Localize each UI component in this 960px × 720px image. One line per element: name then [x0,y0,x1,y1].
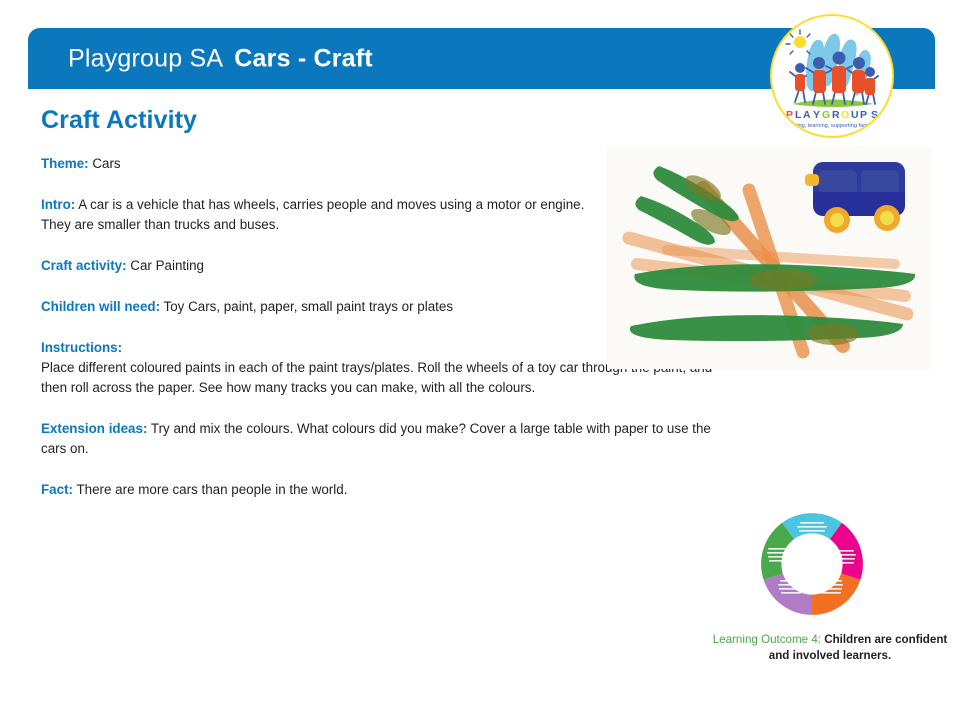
craft-activity-block: Craft activity: Car Painting [41,256,606,276]
learning-outcome-caption: Learning Outcome 4: Children are confide… [705,632,955,664]
svg-text:A: A [803,109,812,121]
svg-text:R: R [832,109,841,121]
svg-text:S: S [871,109,879,121]
logo-tagline: Playing, learning, supporting families [786,123,877,129]
svg-text:O: O [841,109,850,121]
header-title: Playgroup SACars - Craft [68,46,373,71]
extension-ideas-label: Extension ideas: [41,421,147,436]
children-will-need-block: Children will need: Toy Cars, paint, pap… [41,297,606,317]
learning-outcomes-wheel [756,508,868,620]
extension-ideas-block: Extension ideas: Try and mix the colours… [41,419,717,459]
svg-text:L: L [795,109,802,121]
page-title: Craft Activity [41,106,197,135]
theme-block: Theme: Cars [41,154,606,174]
learning-outcomes-donut [756,508,868,620]
intro-label: Intro: [41,197,75,212]
svg-text:P: P [786,109,794,121]
craft-activity-label: Craft activity: [41,258,127,273]
intro-block: Intro: A car is a vehicle that has wheel… [41,195,606,235]
car-painting-artwork [607,146,932,369]
learning-outcome-highlight: Learning Outcome 4: [713,633,821,646]
intro-value: A car is a vehicle that has wheels, carr… [41,197,584,232]
svg-text:P: P [860,109,868,121]
car-painting-photo [607,146,932,369]
fact-label: Fact: [41,482,73,497]
svg-text:G: G [822,109,831,121]
logo-artwork: P L A Y G R O U P S A Playing, learning,… [772,16,892,136]
fact-block: Fact: There are more cars than people in… [41,480,717,500]
theme-value: Cars [89,156,121,171]
svg-text:U: U [851,109,860,121]
header-brand: Playgroup SA [68,44,223,72]
children-will-need-label: Children will need: [41,299,160,314]
playgroup-sa-logo: P L A Y G R O U P S A Playing, learning,… [770,14,894,138]
theme-label: Theme: [41,156,89,171]
header-topic: Cars - Craft [234,44,373,72]
craft-activity-value: Car Painting [127,258,204,273]
svg-text:A: A [879,109,888,121]
fact-value: There are more cars than people in the w… [73,482,347,497]
children-will-need-value: Toy Cars, paint, paper, small paint tray… [160,299,453,314]
svg-text:Y: Y [813,109,821,121]
